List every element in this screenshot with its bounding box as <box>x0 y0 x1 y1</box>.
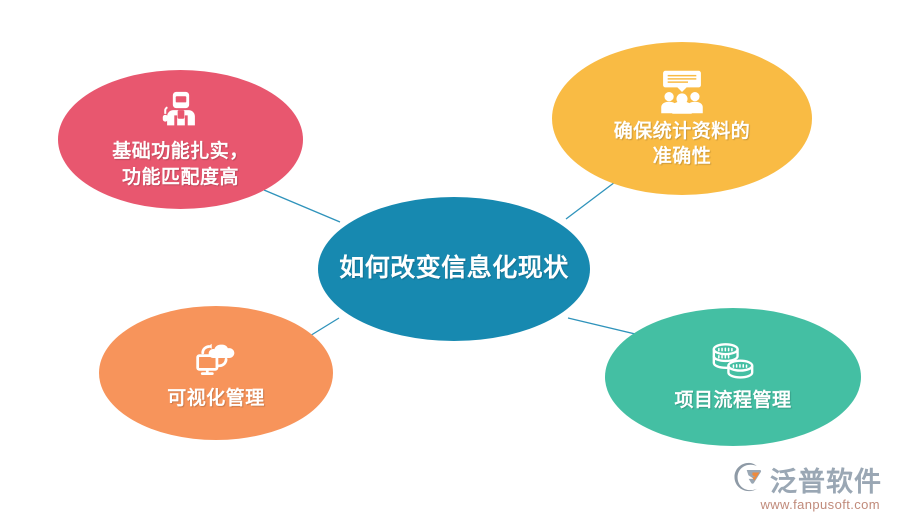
fanpu-logo-icon <box>733 461 767 498</box>
diagram-canvas: 如何改变信息化现状 基础功能扎实， 功能匹配度高 <box>0 0 900 520</box>
connector-center-to-top-left <box>264 190 340 222</box>
welder-worker-icon <box>158 89 204 135</box>
node-top-right[interactable]: 确保统计资料的 准确性 <box>552 42 812 195</box>
node-top-left-label: 基础功能扎实， 功能匹配度高 <box>112 139 249 189</box>
watermark-logo: 泛普软件 www.fanpusoft.com <box>733 460 882 512</box>
node-bottom-left-label: 可视化管理 <box>167 387 265 412</box>
watermark-url: www.fanpusoft.com <box>760 497 880 512</box>
coin-stack-icon <box>708 341 758 383</box>
discussion-group-icon <box>658 68 706 116</box>
node-bottom-right-label: 项目流程管理 <box>674 389 791 414</box>
node-top-right-label: 确保统计资料的 准确性 <box>614 119 751 170</box>
watermark-row: 泛普软件 <box>733 460 882 499</box>
cloud-monitor-sync-icon <box>193 335 239 379</box>
node-bottom-right[interactable]: 项目流程管理 <box>605 308 861 446</box>
node-center-label: 如何改变信息化现状 <box>339 253 569 284</box>
node-center[interactable]: 如何改变信息化现状 <box>318 197 590 341</box>
node-bottom-left[interactable]: 可视化管理 <box>99 306 333 440</box>
node-top-left[interactable]: 基础功能扎实， 功能匹配度高 <box>58 70 303 209</box>
watermark-brand: 泛普软件 <box>770 460 882 499</box>
